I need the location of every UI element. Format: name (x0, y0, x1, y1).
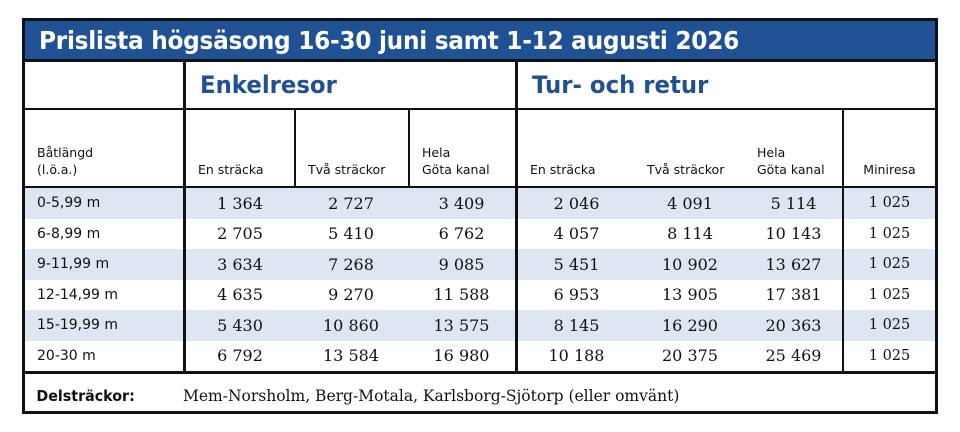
cell-enkel-tva-strackor: 9 270 (294, 280, 408, 311)
cell-boat-length: 6-8,99 m (25, 219, 183, 250)
cell-enkel-en-stracka: 2 705 (183, 219, 294, 250)
cell-enkel-hela-gota-kanal: 6 762 (408, 219, 515, 250)
table-body: 0-5,99 m1 3642 7273 4092 0464 0915 1141 … (25, 188, 935, 371)
group-header-tur-och-retur: Tur- och retur (515, 62, 935, 108)
cell-tur-tva-strackor: 20 375 (635, 341, 745, 372)
cell-enkel-en-stracka: 4 635 (183, 280, 294, 311)
footer-label: Delsträckor: (25, 387, 175, 405)
cell-tur-tva-strackor: 4 091 (635, 188, 745, 219)
cell-miniresa: 1 025 (842, 249, 935, 280)
cell-tur-hela-gota-kanal: 13 627 (745, 249, 842, 280)
cell-tur-en-stracka: 10 188 (515, 341, 635, 372)
subheader-boat-length: Båtlängd (l.ö.a.) (25, 110, 183, 186)
cell-tur-tva-strackor: 16 290 (635, 310, 745, 341)
cell-enkel-en-stracka: 3 634 (183, 249, 294, 280)
cell-miniresa: 1 025 (842, 341, 935, 372)
cell-tur-en-stracka: 5 451 (515, 249, 635, 280)
cell-tur-hela-gota-kanal: 10 143 (745, 219, 842, 250)
cell-boat-length: 9-11,99 m (25, 249, 183, 280)
subheader-row: Båtlängd (l.ö.a.) En sträcka Två sträcko… (25, 110, 935, 188)
subheader-tur-en-stracka: En sträcka (515, 110, 635, 186)
cell-boat-length: 0-5,99 m (25, 188, 183, 219)
cell-enkel-tva-strackor: 2 727 (294, 188, 408, 219)
cell-tur-hela-gota-kanal: 25 469 (745, 341, 842, 372)
cell-enkel-tva-strackor: 7 268 (294, 249, 408, 280)
group-header-enkelresor: Enkelresor (183, 62, 515, 108)
table-row: 0-5,99 m1 3642 7273 4092 0464 0915 1141 … (25, 188, 935, 219)
footer-value: Mem-Norsholm, Berg-Motala, Karlsborg-Sjö… (183, 387, 679, 405)
subheader-tur-hela-gota-kanal: HelaGöta kanal (745, 110, 842, 186)
cell-tur-en-stracka: 2 046 (515, 188, 635, 219)
cell-enkel-hela-gota-kanal: 3 409 (408, 188, 515, 219)
table-row: 9-11,99 m3 6347 2689 0855 45110 90213 62… (25, 249, 935, 280)
cell-tur-tva-strackor: 10 902 (635, 249, 745, 280)
cell-tur-tva-strackor: 13 905 (635, 280, 745, 311)
subheader-enkel-en-stracka: En sträcka (183, 110, 294, 186)
cell-miniresa: 1 025 (842, 219, 935, 250)
cell-enkel-hela-gota-kanal: 13 575 (408, 310, 515, 341)
cell-enkel-hela-gota-kanal: 9 085 (408, 249, 515, 280)
cell-tur-hela-gota-kanal: 17 381 (745, 280, 842, 311)
cell-miniresa: 1 025 (842, 280, 935, 311)
pricelist-page: Prislista högsäsong 16-30 juni samt 1-12… (0, 0, 960, 432)
subheader-enkel-tva-strackor: Två sträckor (294, 110, 408, 186)
table-row: 12-14,99 m4 6359 27011 5886 95313 90517 … (25, 280, 935, 311)
subheader-tur-tva-strackor: Två sträckor (635, 110, 745, 186)
cell-tur-hela-gota-kanal: 20 363 (745, 310, 842, 341)
group-header-spacer (25, 62, 183, 108)
subheader-miniresa: Miniresa (842, 110, 935, 186)
cell-enkel-tva-strackor: 5 410 (294, 219, 408, 250)
cell-tur-en-stracka: 4 057 (515, 219, 635, 250)
cell-enkel-en-stracka: 5 430 (183, 310, 294, 341)
cell-tur-en-stracka: 6 953 (515, 280, 635, 311)
cell-enkel-hela-gota-kanal: 16 980 (408, 341, 515, 372)
cell-enkel-tva-strackor: 13 584 (294, 341, 408, 372)
cell-enkel-hela-gota-kanal: 11 588 (408, 280, 515, 311)
cell-enkel-en-stracka: 1 364 (183, 188, 294, 219)
page-title: Prislista högsäsong 16-30 juni samt 1-12… (39, 26, 739, 55)
cell-boat-length: 15-19,99 m (25, 310, 183, 341)
cell-boat-length: 12-14,99 m (25, 280, 183, 311)
table-row: 15-19,99 m5 43010 86013 5758 14516 29020… (25, 310, 935, 341)
cell-boat-length: 20-30 m (25, 341, 183, 372)
pricelist-table: Prislista högsäsong 16-30 juni samt 1-12… (22, 18, 938, 414)
table-row: 20-30 m6 79213 58416 98010 18820 37525 4… (25, 341, 935, 372)
table-title-bar: Prislista högsäsong 16-30 juni samt 1-12… (25, 21, 935, 62)
cell-enkel-tva-strackor: 10 860 (294, 310, 408, 341)
cell-enkel-en-stracka: 6 792 (183, 341, 294, 372)
cell-miniresa: 1 025 (842, 310, 935, 341)
cell-tur-hela-gota-kanal: 5 114 (745, 188, 842, 219)
subheader-enkel-hela-gota-kanal: HelaGöta kanal (408, 110, 515, 186)
cell-tur-en-stracka: 8 145 (515, 310, 635, 341)
footer-row: Delsträckor: Mem-Norsholm, Berg-Motala, … (25, 371, 935, 417)
table-row: 6-8,99 m2 7055 4106 7624 0578 11410 1431… (25, 219, 935, 250)
group-header-row: Enkelresor Tur- och retur (25, 62, 935, 110)
cell-tur-tva-strackor: 8 114 (635, 219, 745, 250)
table-grid: Enkelresor Tur- och retur Båtlängd (l.ö.… (25, 62, 935, 411)
cell-miniresa: 1 025 (842, 188, 935, 219)
